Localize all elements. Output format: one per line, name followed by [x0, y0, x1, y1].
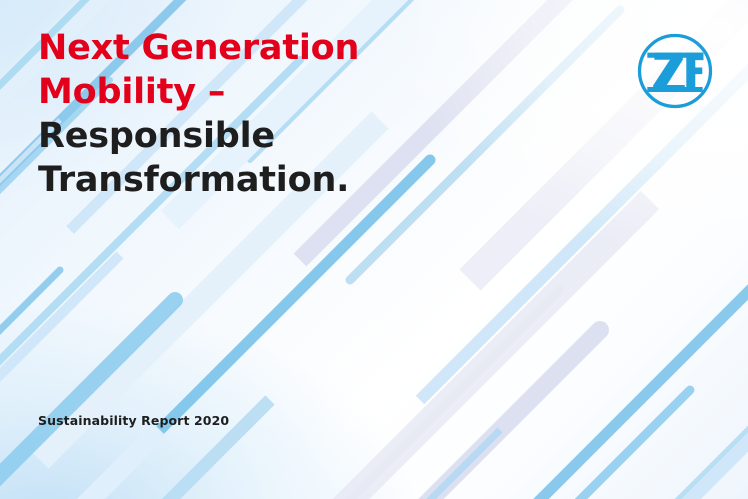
headline-line-4: Transformation.: [38, 158, 458, 202]
zf-logo: [636, 32, 714, 110]
headline-line-3: Responsible: [38, 114, 458, 158]
zf-logo-letters: [647, 53, 703, 92]
report-cover: Next Generation Mobility – Responsible T…: [0, 0, 748, 499]
headline-line-1: Next Generation: [38, 26, 458, 70]
headline-line-2: Mobility –: [38, 70, 458, 114]
report-caption: Sustainability Report 2020: [38, 413, 229, 428]
cover-headline: Next Generation Mobility – Responsible T…: [38, 26, 458, 202]
